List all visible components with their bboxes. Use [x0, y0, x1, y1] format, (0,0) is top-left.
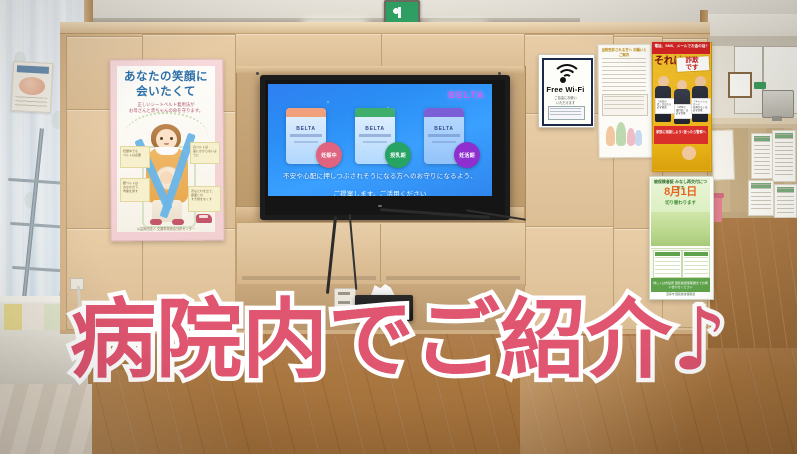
illustration-car-window	[199, 215, 208, 218]
monitor-stand	[772, 116, 782, 121]
poster-title-line-2: 会いたくて	[120, 85, 212, 100]
notice-box-lines	[604, 96, 644, 112]
package-cap	[286, 108, 326, 117]
package-cap	[424, 108, 464, 117]
package-logo: BELTA	[286, 126, 326, 132]
poster-table	[653, 250, 682, 278]
tv-caption-line-2: ご提案します。ご活用ください	[276, 188, 484, 196]
wifi-details-lines	[550, 108, 581, 116]
framed-notice	[728, 72, 752, 98]
wall-notice	[774, 184, 797, 218]
wifi-icon	[552, 63, 580, 81]
reception-soffit	[706, 36, 797, 46]
poster-title-line-1: あなたの笑顔に	[120, 70, 212, 85]
product-badge: 妊活期	[454, 142, 480, 168]
wall-notice	[751, 133, 773, 179]
tv-screen: BELTA BELTA 妊娠中 BELTA 授乳期	[268, 84, 492, 196]
tv-bezel-screw	[256, 72, 259, 75]
poster-person: 「ATMで 還付金」は 必ず詐欺	[673, 80, 691, 124]
package-logo: BELTA	[355, 126, 395, 132]
poster-photo	[651, 212, 710, 246]
poster-footer-text: 家族に相談しよう! 迷ったら警察へ	[655, 129, 707, 134]
overlay-caption: 病院内でご紹介♪	[0, 292, 797, 388]
counter-top	[706, 118, 797, 124]
poster-footer: 公益財団法人 交通事故総合分析センター	[118, 226, 214, 231]
paper-stack	[711, 130, 735, 181]
poster-bottom-face	[682, 146, 696, 160]
package-cap	[355, 108, 395, 117]
tv-bezel-screw	[498, 72, 501, 75]
illustration-shoe	[150, 219, 162, 225]
poster-bottom-strip	[652, 144, 710, 170]
cabinet-panel	[235, 33, 382, 68]
drawer-handle	[386, 276, 520, 280]
drawer-divider	[380, 224, 381, 282]
product-item: BELTA 妊活期	[420, 108, 478, 166]
poster-date-sub: 切り替わります	[652, 200, 709, 206]
wifi-icon-dot	[560, 77, 566, 83]
product-item: BELTA 妊娠中	[282, 108, 340, 166]
illustration-shoe	[172, 219, 184, 225]
product-item: BELTA 授乳期	[351, 108, 409, 166]
wifi-label: Free Wi-Fi	[542, 85, 589, 94]
pamphlet	[11, 61, 54, 113]
product-badge: 妊娠中	[316, 142, 342, 168]
poster-headline-highlight-text: 詐欺 です	[677, 57, 707, 71]
poster-person: 「お金の 話」が出たら 必ず相談	[654, 76, 672, 122]
poster-note: 肩ベルトは 首にかからないように	[190, 142, 220, 164]
poster-table	[682, 250, 710, 278]
tv-caption-line-1: 不安や心配に押しつぶされそうになる方へのお守りになるよう、	[276, 172, 484, 181]
wall-notice	[748, 180, 774, 216]
illustration-eye	[170, 137, 173, 140]
poster-title: あなたの笑顔に 会いたくて	[120, 70, 212, 100]
person-card: 「キャッシュカード を預かる」は 必ず詐欺	[691, 98, 711, 114]
reception-monitor	[762, 90, 794, 118]
poster-band-text: 電話、SMS、メールでお金の話?	[653, 44, 709, 49]
poster-date: 8月1日	[652, 186, 709, 198]
notice-body-lines	[602, 58, 646, 92]
wall-notice	[772, 130, 796, 182]
wifi-subtext-line-2: いただけます	[544, 101, 587, 106]
belta-logo: BELTA	[448, 90, 485, 100]
product-badge: 授乳期	[385, 142, 411, 168]
floor-tile-area	[0, 384, 92, 454]
poster-note: 妊娠中でも ベルトは必要	[120, 146, 150, 168]
green-sign-tag	[754, 82, 766, 89]
tv-power-led	[378, 205, 382, 207]
person-card: 「お金の 話」が出たら 必ず相談	[655, 98, 675, 114]
notice-title: 当院受診される方へ お願いとご案内	[601, 48, 647, 58]
poster-note: 腰ベルトは おなかの下、 骨盤を通す	[120, 178, 150, 202]
poster-person: 「キャッシュカード を預かる」は 必ず詐欺	[691, 76, 709, 122]
product-row: BELTA 妊娠中 BELTA 授乳期 BELTA 妊活	[282, 108, 478, 166]
family-illustration	[606, 118, 642, 148]
wifi-subtext: ご自由にお使い いただけます	[544, 96, 587, 105]
photo-scene: BELTA BELTA 妊娠中 BELTA 授乳期	[0, 0, 797, 454]
poster-note: 背もたれを立て、 座面との すき間をなくす	[188, 186, 221, 212]
cabinet-panel	[381, 33, 525, 68]
package-logo: BELTA	[424, 126, 464, 132]
illustration-eye	[160, 137, 163, 140]
poster-band-text: 詳しくは市役所 国民健康保険課までお問い合わせください	[652, 281, 709, 289]
recess-top-shelf	[236, 66, 524, 73]
